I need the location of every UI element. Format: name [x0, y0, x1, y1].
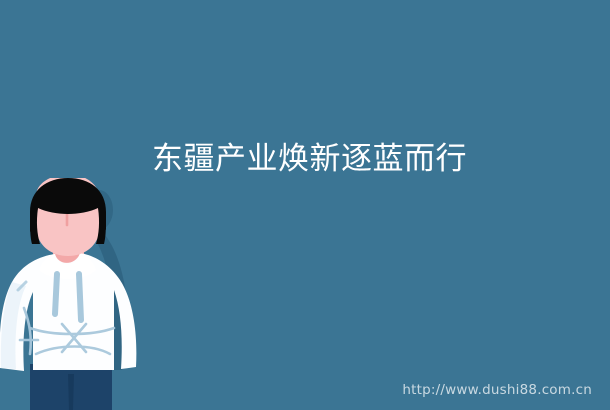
person-illustration: [0, 178, 150, 410]
pants: [30, 364, 112, 410]
page-title: 东疆产业焕新逐蓝而行: [152, 140, 482, 178]
poster-canvas: 东疆产业焕新逐蓝而行 http://www.dushi88.com.cn: [0, 0, 610, 410]
watermark-url: http://www.dushi88.com.cn: [402, 382, 592, 398]
